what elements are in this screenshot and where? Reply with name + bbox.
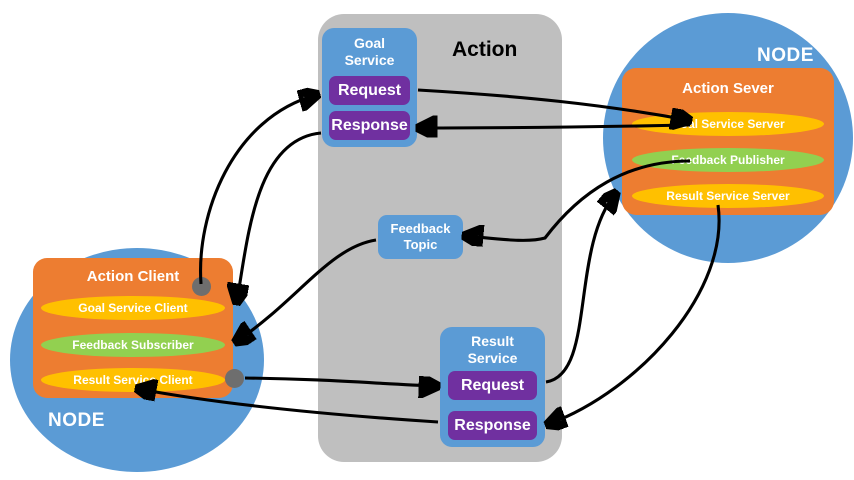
pill-goal-service-client[interactable]: Goal Service Client (41, 296, 225, 320)
diagram-canvas: { "diagram": { "title": "ROS 2 Action ar… (0, 0, 854, 480)
pill-result-service-client[interactable]: Result Service Client (41, 368, 225, 392)
result-service-title: Result Service (440, 333, 545, 367)
feedback-topic-label: Feedback Topic (391, 221, 451, 253)
goal-service-response[interactable]: Response (329, 111, 410, 140)
client-node-label: NODE (48, 410, 105, 432)
feedback-topic-box[interactable]: Feedback Topic (378, 215, 463, 259)
goal-service-box: Goal Service Request Response (322, 28, 417, 147)
feedback-topic-line2: Topic (404, 237, 438, 252)
goal-service-request[interactable]: Request (329, 76, 410, 105)
arrow-goal-client-to-request (201, 95, 316, 284)
pill-goal-service-server[interactable]: Goal Service Server (632, 112, 824, 136)
result-service-response[interactable]: Response (448, 411, 537, 440)
result-service-request[interactable]: Request (448, 371, 537, 400)
goal-service-title-line2: Service (345, 52, 395, 68)
connector-dot-result-client (225, 369, 244, 388)
action-server-title: Action Sever (622, 80, 834, 97)
action-server-box: Action Sever Goal Service Server Feedbac… (622, 68, 834, 215)
action-title: Action (452, 38, 517, 62)
connector-dot-goal-client (192, 277, 211, 296)
result-service-box: Result Service Request Response (440, 327, 545, 447)
pill-result-service-server[interactable]: Result Service Server (632, 184, 824, 208)
arrow-goal-response-to-client (237, 133, 321, 301)
result-service-title-line2: Service (468, 350, 518, 366)
goal-service-title: Goal Service (322, 35, 417, 69)
pill-feedback-publisher[interactable]: Feedback Publisher (632, 148, 824, 172)
server-node-label: NODE (757, 45, 814, 67)
result-service-title-line1: Result (471, 333, 514, 349)
feedback-topic-line1: Feedback (391, 221, 451, 236)
pill-feedback-subscriber[interactable]: Feedback Subscriber (41, 333, 225, 357)
goal-service-title-line1: Goal (354, 35, 385, 51)
